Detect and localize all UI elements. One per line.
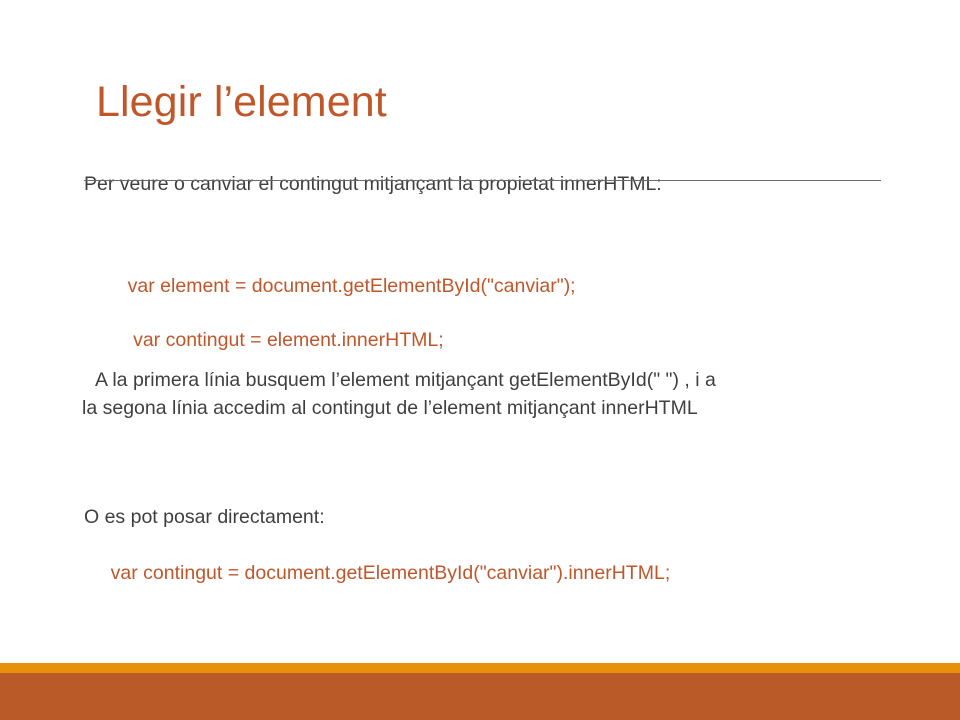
intro-paragraph: Per veure o canviar el contingut mitjanç… [84, 171, 884, 197]
page-title: Llegir l’element [96, 76, 387, 128]
code-line-1: var contingut = document.getElementById(… [111, 562, 671, 584]
code-line-2: var contingut = element.innerHTML; [128, 329, 444, 351]
title-divider [84, 180, 881, 181]
alternative-intro-paragraph: O es pot posar directament: [84, 504, 325, 530]
footer-band [0, 673, 960, 720]
code-block-direct: var contingut = document.getElementById(… [89, 533, 670, 614]
code-line-1: var element = document.getElementById("c… [128, 275, 576, 297]
slide-canvas: Llegir l’element Per veure o canviar el … [0, 0, 960, 720]
explanation-line-2: la segona línia accedim al contingut de … [82, 394, 885, 422]
footer-accent-stripe [0, 663, 960, 673]
code-block-read-element: var element = document.getElementById("c… [106, 246, 576, 381]
explanation-paragraph: A la primera línia busquem l’element mit… [95, 366, 885, 422]
explanation-line-1: A la primera línia busquem l’element mit… [95, 369, 716, 391]
